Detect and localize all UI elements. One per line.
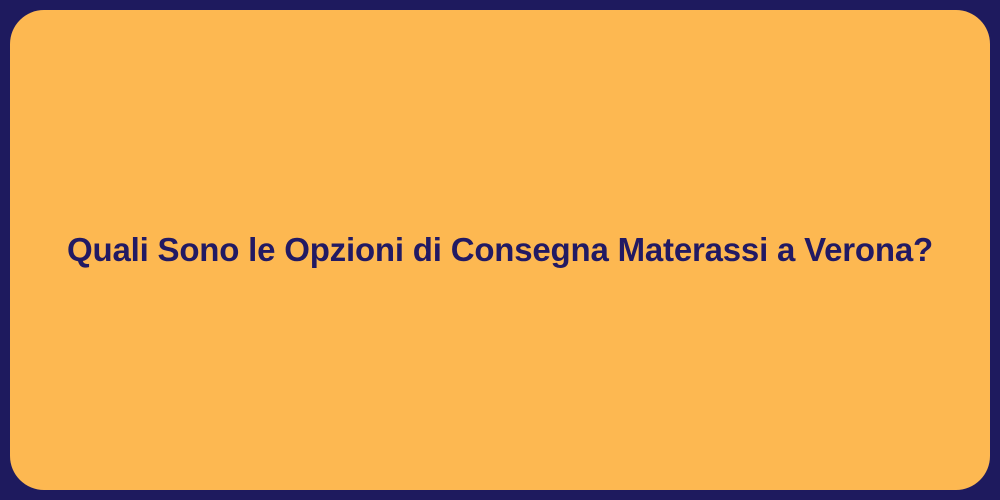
hero-card: Quali Sono le Opzioni di Consegna Matera… [10, 10, 990, 490]
page-title: Quali Sono le Opzioni di Consegna Matera… [50, 229, 950, 270]
page-frame: Quali Sono le Opzioni di Consegna Matera… [0, 0, 1000, 500]
hero-card-content: Quali Sono le Opzioni di Consegna Matera… [50, 229, 950, 270]
